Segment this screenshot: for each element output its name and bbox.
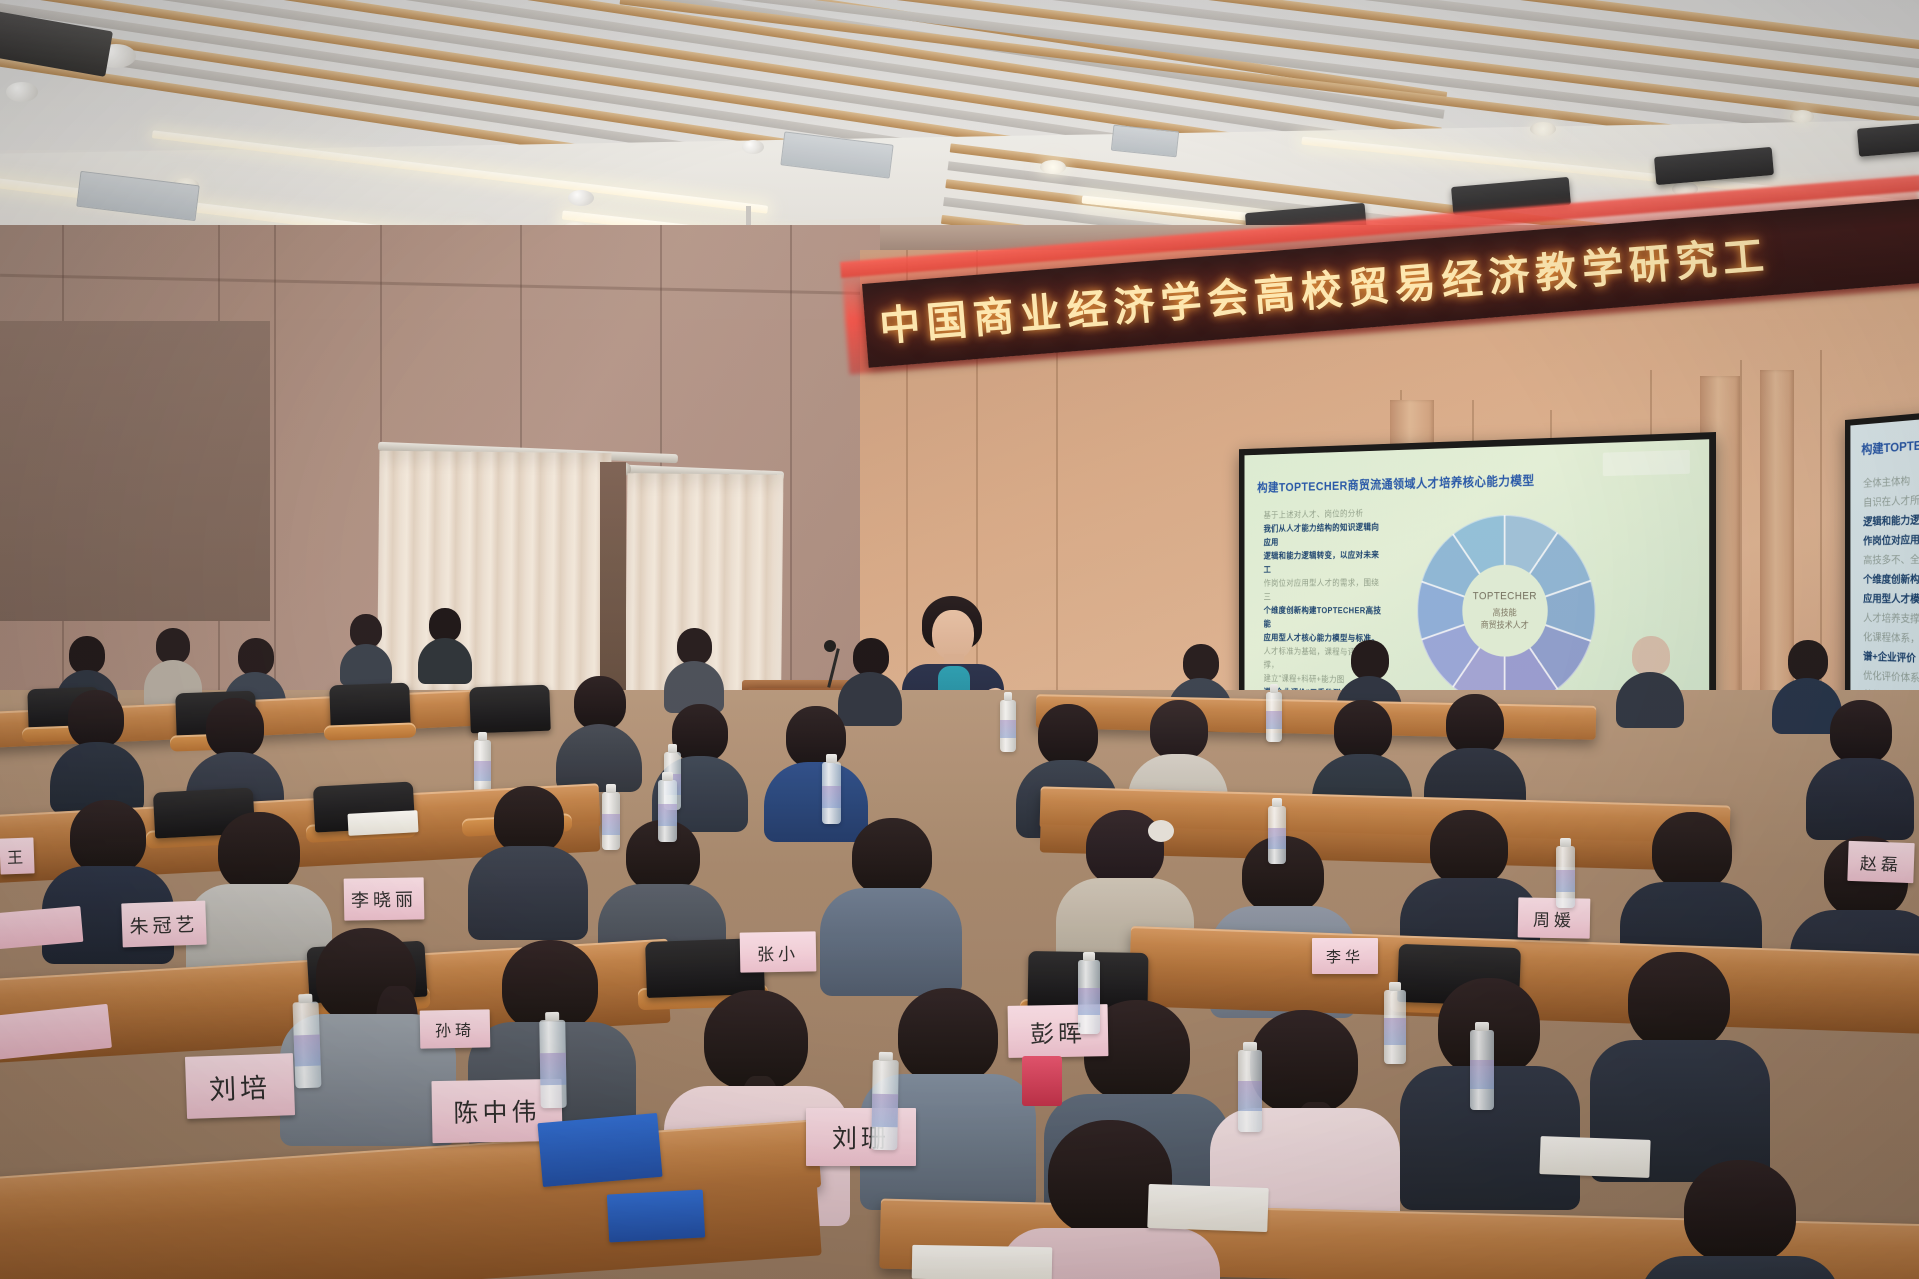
name-placard: 刘珊 bbox=[806, 1108, 916, 1166]
slide-body-line: 个维度创新构建TOPTECHER高技能 bbox=[1264, 604, 1385, 632]
side-slide-title: 构建TOPTE bbox=[1861, 436, 1919, 458]
audience-person bbox=[664, 628, 724, 710]
slide-donut-chart: TOPTECHER 高技能 商贸技术人才 bbox=[1417, 513, 1595, 708]
audience-person bbox=[1640, 1160, 1840, 1279]
water-bottle[interactable] bbox=[602, 792, 620, 850]
side-slide-body-line: 作岗位对应用 bbox=[1863, 528, 1919, 552]
slide-title: 构建TOPTECHER商贸流通领域人才培养核心能力模型 bbox=[1257, 468, 1619, 496]
water-bottle[interactable] bbox=[1266, 692, 1282, 742]
name-placard: 朱冠艺 bbox=[121, 901, 206, 948]
water-bottle[interactable] bbox=[871, 1060, 899, 1150]
water-bottle[interactable] bbox=[1268, 806, 1286, 864]
notepad[interactable] bbox=[1539, 1136, 1650, 1178]
audience-person bbox=[340, 614, 392, 684]
audience-person bbox=[468, 786, 588, 936]
red-cup[interactable] bbox=[1022, 1056, 1062, 1106]
water-bottle[interactable] bbox=[1384, 990, 1406, 1064]
recessed-downlight bbox=[1040, 160, 1066, 174]
donut-center-title: TOPTECHER bbox=[1473, 591, 1537, 603]
notepad[interactable] bbox=[1147, 1184, 1268, 1232]
water-bottle[interactable] bbox=[1000, 700, 1016, 752]
water-bottle[interactable] bbox=[658, 780, 677, 842]
name-placard: 刘培 bbox=[185, 1053, 295, 1119]
side-slide-body: 全体主体构自识在人才所逻辑和能力逻作岗位对应用高技多不、全个维度创新构应用型人才… bbox=[1863, 465, 1919, 715]
audience-person bbox=[1806, 700, 1914, 836]
slide-body-line: 基于上述对人才、岗位的分析 bbox=[1264, 506, 1385, 522]
water-bottle[interactable] bbox=[822, 762, 841, 824]
name-placard: 李华 bbox=[1312, 938, 1378, 974]
slide-body-line: 逻辑和能力逻辑转变，以应对未来工 bbox=[1264, 548, 1385, 577]
chair[interactable] bbox=[469, 685, 551, 734]
conference-hall-photo: 中国商业经济学会高校贸易经济教学研究工 构建TOPTECHER商贸流通领域人才培… bbox=[0, 0, 1919, 1279]
audience-person bbox=[1616, 636, 1684, 726]
water-bottle[interactable] bbox=[1238, 1050, 1262, 1132]
ceiling-speaker bbox=[1857, 123, 1919, 157]
audience-person bbox=[820, 818, 962, 994]
audience-person bbox=[50, 690, 144, 810]
blue-folder[interactable] bbox=[537, 1113, 662, 1187]
name-placard: 李晓丽 bbox=[344, 877, 425, 920]
donut-center-line3: 商贸技术人才 bbox=[1481, 618, 1529, 631]
audience-person bbox=[418, 608, 472, 682]
blue-folder[interactable] bbox=[607, 1190, 705, 1243]
name-placard: 张小 bbox=[740, 931, 817, 972]
slide-body-line: 我们从人才能力结构的知识逻辑向应用 bbox=[1264, 520, 1385, 549]
name-placard: 赵磊 bbox=[1847, 841, 1914, 883]
notepad[interactable] bbox=[912, 1245, 1053, 1279]
water-bottle[interactable] bbox=[293, 1002, 322, 1089]
smoke-detector bbox=[742, 140, 764, 154]
audience-person bbox=[764, 706, 868, 836]
side-slide-body-line: 应用型人才模 bbox=[1863, 590, 1919, 611]
water-bottle[interactable] bbox=[1078, 960, 1100, 1034]
wall-dark-panel bbox=[0, 321, 270, 621]
microphone-head bbox=[824, 640, 836, 652]
side-slide-body-line: 高技多不、全 bbox=[1863, 549, 1919, 571]
name-placard: 王 bbox=[0, 837, 35, 874]
smoke-detector bbox=[6, 82, 38, 102]
water-bottle[interactable] bbox=[1556, 846, 1575, 908]
slide-body-line: 作岗位对应用型人才的需求，围绕三 bbox=[1264, 576, 1385, 604]
name-placard: 孙琦 bbox=[420, 1009, 491, 1048]
water-bottle[interactable] bbox=[1470, 1030, 1494, 1110]
notepad[interactable] bbox=[347, 810, 418, 836]
water-bottle[interactable] bbox=[539, 1020, 567, 1108]
side-slide-body-line: 个维度创新构 bbox=[1863, 570, 1919, 591]
name-placard: 周媛 bbox=[1518, 897, 1591, 938]
recessed-downlight bbox=[1530, 122, 1556, 136]
chair-back-rail bbox=[324, 722, 416, 740]
donut-center-line2: 高技能 bbox=[1493, 606, 1517, 618]
recessed-downlight bbox=[1790, 110, 1814, 123]
audience-person bbox=[556, 676, 642, 788]
side-slide-body-line: 全体主体构 bbox=[1863, 465, 1919, 494]
smoke-detector bbox=[568, 190, 594, 206]
